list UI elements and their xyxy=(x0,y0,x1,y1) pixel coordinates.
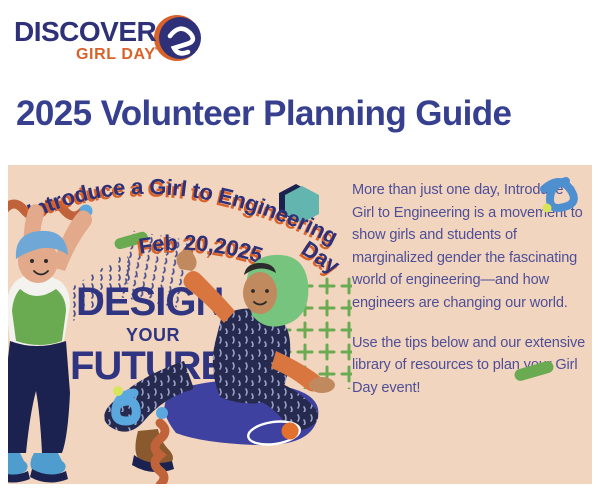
discover-e-roundel-icon xyxy=(154,15,201,61)
yellow-dot-right-icon xyxy=(543,204,552,213)
seated-face-icon xyxy=(243,272,277,314)
hero-copy-column: More than just one day, Introduce a Girl… xyxy=(352,179,592,484)
yellow-dot-icon xyxy=(113,386,123,396)
hero-banner: Introduce a Girl to Engineering Introduc… xyxy=(8,165,592,484)
logo-subwordmark: GIRL DAY xyxy=(76,46,156,63)
blue-dot-small-icon xyxy=(156,407,168,419)
orange-dot-icon xyxy=(282,423,299,440)
page-title: 2025 Volunteer Planning Guide xyxy=(16,93,596,135)
lockup-your: YOUR xyxy=(126,325,180,345)
logo-wordmark: DISCOVER xyxy=(14,16,157,47)
blue-spiral-pin-right-icon xyxy=(534,175,582,219)
logo-trademark-symbol: ™ xyxy=(152,47,159,54)
discover-girl-day-logo[interactable]: DISCOVER GIRL DAY ™ xyxy=(14,12,204,64)
hero-illustration-svg: Introduce a Girl to Engineering Introduc… xyxy=(8,165,352,484)
seated-hand-icon xyxy=(309,377,335,393)
logo-svg: DISCOVER GIRL DAY ™ xyxy=(14,12,204,64)
standing-vest-icon xyxy=(12,289,66,345)
green-pill-right-icon xyxy=(510,357,566,385)
hero-illustration: Introduce a Girl to Engineering Introduc… xyxy=(8,165,352,484)
